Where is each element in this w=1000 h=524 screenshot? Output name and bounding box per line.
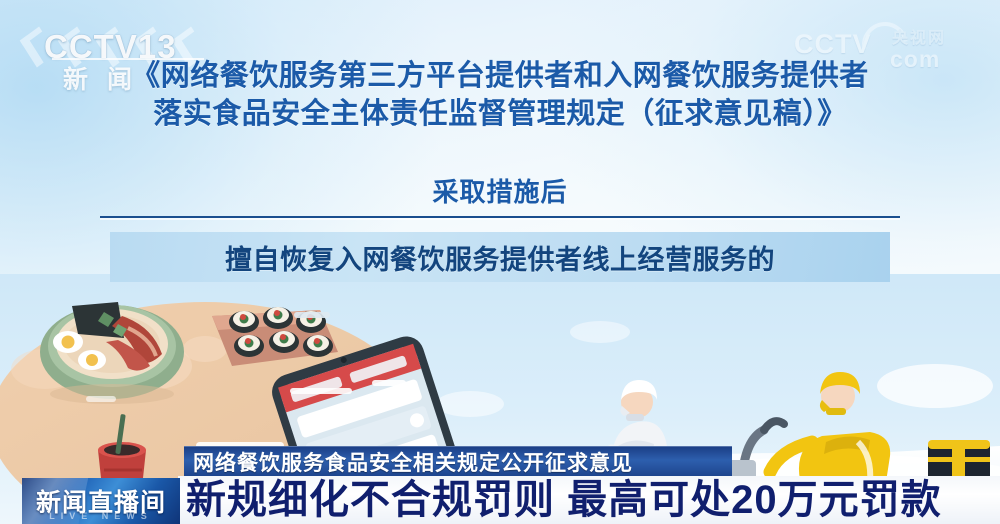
- section-divider: [100, 216, 900, 218]
- watermark-cn-name: 央视网: [892, 24, 946, 48]
- cloud-shape: [877, 364, 993, 408]
- clause-highlight-band: 擅自恢复入网餐饮服务提供者线上经营服务的: [110, 232, 890, 282]
- document-title-line1: 《网络餐饮服务第三方平台提供者和入网餐饮服务提供者: [131, 58, 869, 92]
- condition-label: 采取措施后: [0, 172, 1000, 209]
- document-title-line2: 落实食品安全主体责任监督管理规定（征求意见稿）》: [60, 94, 940, 132]
- broadcast-frame: CCTV13 新 闻 CCTV 央视网 com 《网络餐饮服务第三方平台提供者和…: [0, 0, 1000, 524]
- program-name-english: LIVE NEWS: [22, 511, 180, 521]
- lower-third-topic: 网络餐饮服务食品安全相关规定公开征求意见: [184, 447, 633, 477]
- lower-third-headline: 新规细化不合规罚则 最高可处20万元罚款: [178, 477, 942, 523]
- program-badge: 新闻直播间 LIVE NEWS: [22, 478, 180, 524]
- document-title: 《网络餐饮服务第三方平台提供者和入网餐饮服务提供者 落实食品安全主体责任监督管理…: [60, 56, 940, 132]
- clause-text: 擅自恢复入网餐饮服务提供者线上经营服务的: [225, 238, 775, 277]
- lower-third-headline-bar: 新规细化不合规罚则 最高可处20万元罚款: [178, 476, 1000, 524]
- lower-third-topic-bar: 网络餐饮服务食品安全相关规定公开征求意见: [184, 446, 732, 476]
